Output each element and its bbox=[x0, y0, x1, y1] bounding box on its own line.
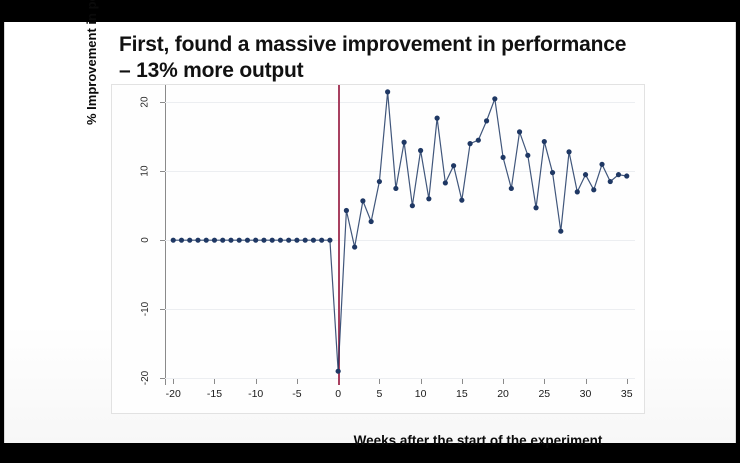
data-point bbox=[608, 179, 613, 184]
x-tick-label: 20 bbox=[488, 388, 518, 400]
data-point bbox=[171, 238, 176, 243]
data-point bbox=[583, 172, 588, 177]
data-point bbox=[435, 116, 440, 121]
slide-title: First, found a massive improvement in pe… bbox=[119, 32, 639, 84]
y-tick-label: -10 bbox=[135, 301, 157, 317]
data-point bbox=[179, 238, 184, 243]
x-tick-label: 25 bbox=[529, 388, 559, 400]
data-point bbox=[385, 89, 390, 94]
data-point bbox=[418, 148, 423, 153]
data-point bbox=[204, 238, 209, 243]
data-point bbox=[303, 238, 308, 243]
data-point bbox=[525, 153, 530, 158]
data-point bbox=[187, 238, 192, 243]
data-point bbox=[270, 238, 275, 243]
data-point bbox=[261, 238, 266, 243]
data-point bbox=[591, 187, 596, 192]
data-point bbox=[616, 172, 621, 177]
data-point bbox=[443, 180, 448, 185]
x-tick-label: 30 bbox=[571, 388, 601, 400]
data-point bbox=[393, 186, 398, 191]
y-axis-label: % Improvement in performance bbox=[84, 0, 102, 125]
data-point bbox=[533, 205, 538, 210]
data-point bbox=[484, 118, 489, 123]
data-point bbox=[311, 238, 316, 243]
y-tick-label: -20 bbox=[135, 370, 157, 386]
data-point bbox=[360, 198, 365, 203]
data-point bbox=[451, 163, 456, 168]
plot-area: -20-1001020-20-15-10-505101520253035 bbox=[165, 97, 635, 379]
data-point bbox=[542, 139, 547, 144]
data-point bbox=[212, 238, 217, 243]
x-tick-label: 15 bbox=[447, 388, 477, 400]
data-point bbox=[228, 238, 233, 243]
x-tick-label: -20 bbox=[158, 388, 188, 400]
data-point bbox=[294, 238, 299, 243]
data-point bbox=[344, 208, 349, 213]
data-point bbox=[278, 238, 283, 243]
data-point bbox=[377, 179, 382, 184]
data-point bbox=[624, 173, 629, 178]
data-series-line bbox=[165, 85, 635, 385]
data-point bbox=[369, 219, 374, 224]
y-tick-label: 0 bbox=[135, 232, 157, 248]
x-tick-label: -15 bbox=[199, 388, 229, 400]
x-tick-label: 10 bbox=[406, 388, 436, 400]
x-axis-label: Weeks after the start of the experiment bbox=[112, 433, 740, 448]
data-point bbox=[517, 129, 522, 134]
x-tick-label: -5 bbox=[282, 388, 312, 400]
data-point bbox=[426, 196, 431, 201]
data-point bbox=[566, 149, 571, 154]
data-point bbox=[492, 96, 497, 101]
letterbox-top bbox=[0, 0, 740, 22]
data-point bbox=[558, 229, 563, 234]
data-point bbox=[253, 238, 258, 243]
data-point bbox=[500, 155, 505, 160]
y-axis-label-holder: % Improvement in performance bbox=[126, 99, 146, 399]
data-point bbox=[327, 238, 332, 243]
data-point bbox=[319, 238, 324, 243]
x-tick-label: 5 bbox=[364, 388, 394, 400]
x-tick-label: -10 bbox=[241, 388, 271, 400]
y-tick-label: 10 bbox=[135, 163, 157, 179]
x-tick-label: 35 bbox=[612, 388, 642, 400]
data-point bbox=[410, 203, 415, 208]
data-point bbox=[509, 186, 514, 191]
data-point bbox=[459, 198, 464, 203]
data-point bbox=[195, 238, 200, 243]
data-point bbox=[237, 238, 242, 243]
screenshot-frame: First, found a massive improvement in pe… bbox=[0, 0, 740, 463]
data-point bbox=[467, 141, 472, 146]
data-point bbox=[245, 238, 250, 243]
data-point bbox=[220, 238, 225, 243]
presentation-slide: First, found a massive improvement in pe… bbox=[4, 22, 736, 443]
data-point bbox=[599, 162, 604, 167]
data-point bbox=[336, 369, 341, 374]
data-point bbox=[352, 244, 357, 249]
data-point bbox=[550, 170, 555, 175]
chart-container: % Improvement in performance -20-1001020… bbox=[111, 84, 645, 414]
y-tick-label: 20 bbox=[135, 94, 157, 110]
data-point bbox=[402, 140, 407, 145]
x-tick-label: 0 bbox=[323, 388, 353, 400]
data-point bbox=[476, 138, 481, 143]
data-point bbox=[286, 238, 291, 243]
data-point bbox=[575, 189, 580, 194]
